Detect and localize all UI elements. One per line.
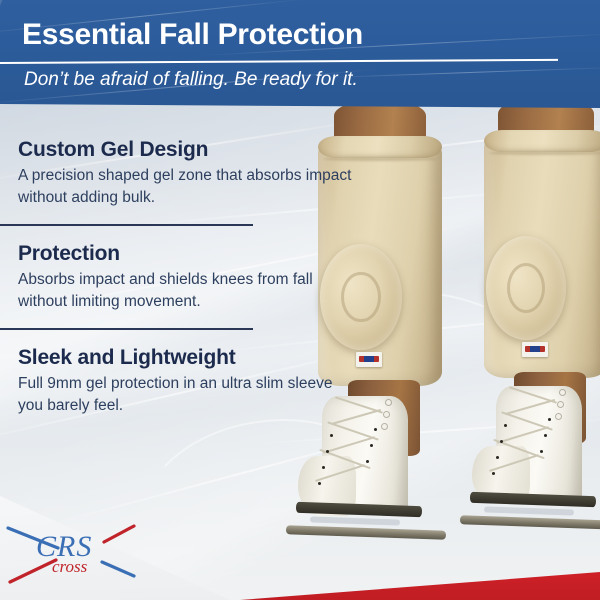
feature-item-sleek-and-lightweight: Sleek and Lightweight Full 9mm gel prote… (0, 346, 372, 417)
feature-list: Custom Gel Design A precision shaped gel… (0, 112, 372, 417)
logo-secondary-text: cross (52, 557, 88, 576)
feature-heading: Sleek and Lightweight (18, 346, 354, 370)
page-title: Essential Fall Protection (22, 18, 363, 52)
header-banner: Essential Fall Protection Don’t be afrai… (0, 0, 600, 112)
feature-heading: Protection (18, 242, 354, 266)
feature-heading: Custom Gel Design (18, 138, 354, 162)
feature-body: Full 9mm gel protection in an ultra slim… (18, 373, 354, 417)
feature-item-protection: Protection Absorbs impact and shields kn… (0, 242, 372, 313)
promo-poster: Essential Fall Protection Don’t be afrai… (0, 0, 600, 600)
feature-divider (0, 328, 253, 330)
title-divider (0, 59, 558, 64)
page-subtitle: Don’t be afraid of falling. Be ready for… (24, 69, 358, 91)
feature-item-custom-gel-design: Custom Gel Design A precision shaped gel… (0, 112, 372, 209)
feature-body: A precision shaped gel zone that absorbs… (18, 165, 354, 209)
feature-divider (0, 224, 253, 226)
feature-body: Absorbs impact and shields knees from fa… (18, 269, 354, 313)
crs-cross-logo[interactable]: CRS cross (6, 514, 138, 586)
